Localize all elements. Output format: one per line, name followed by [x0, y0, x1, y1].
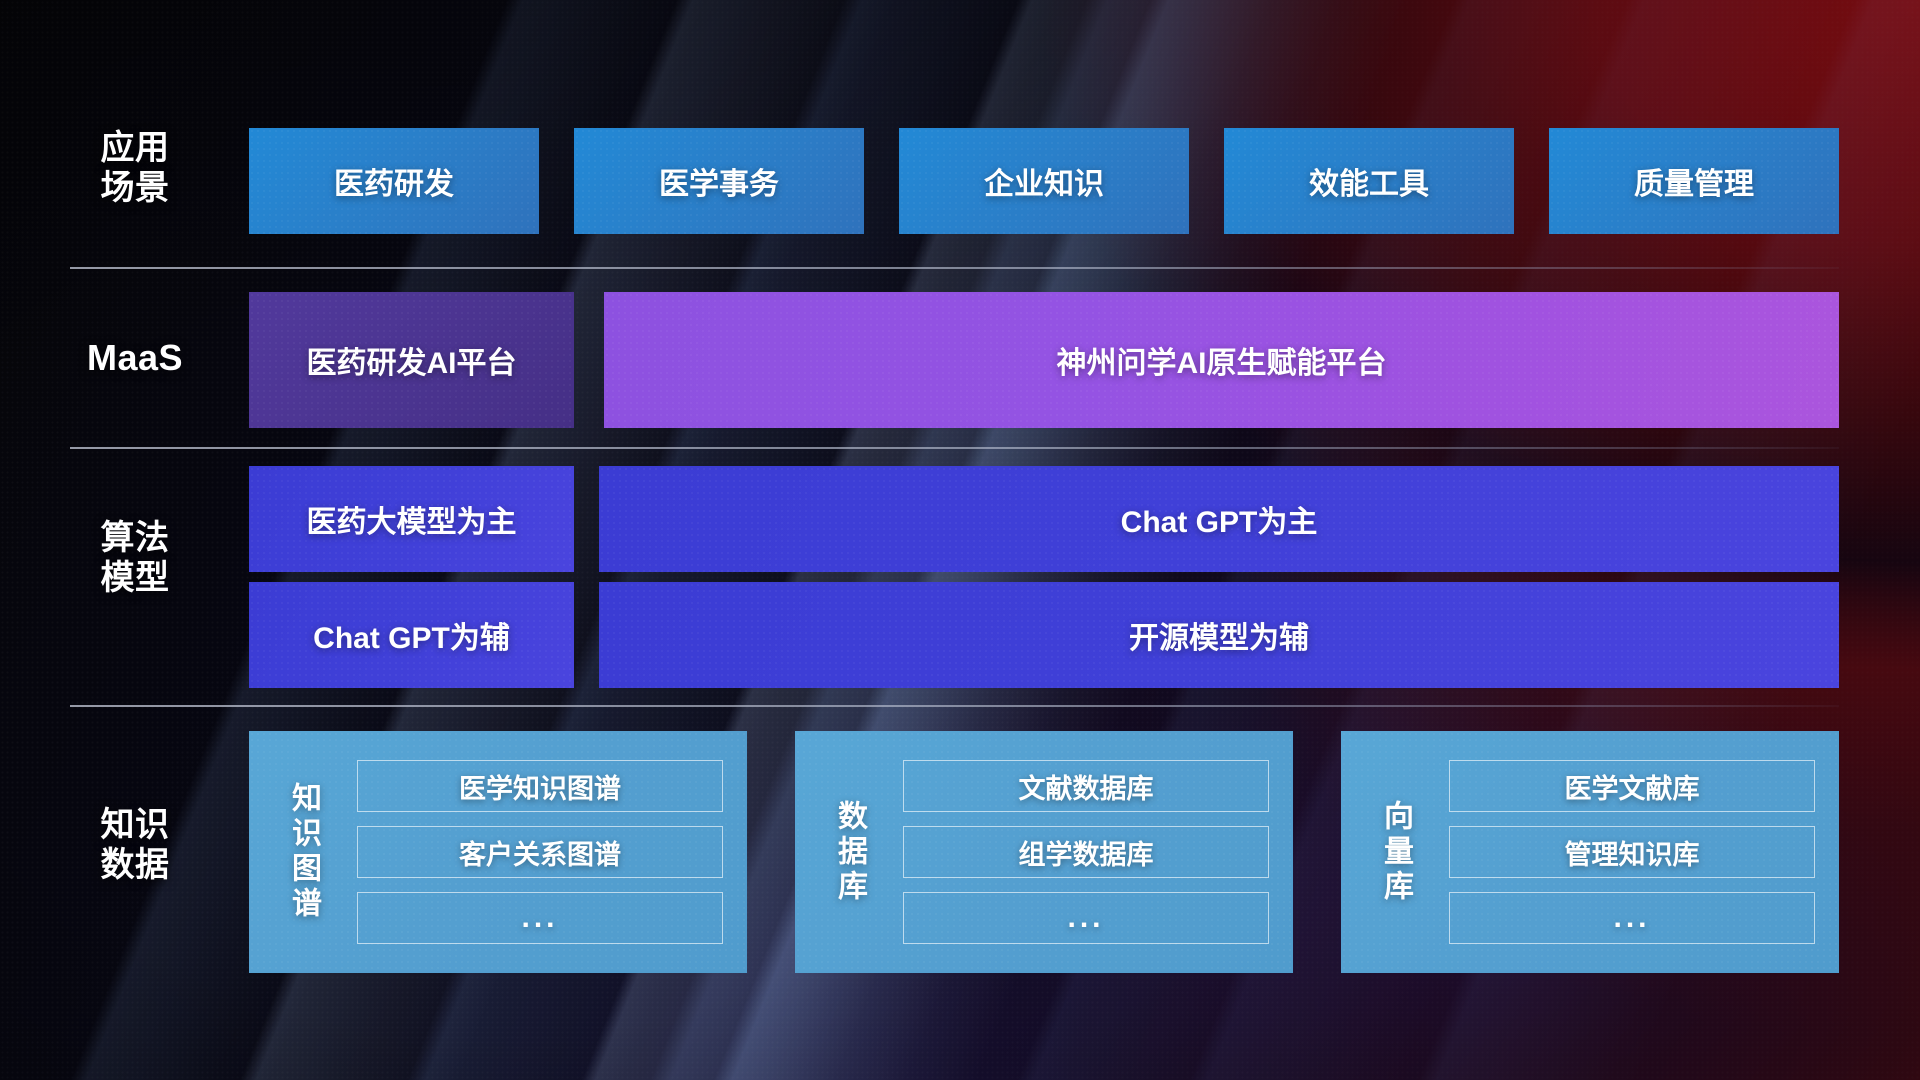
algo-box-label: 医药大模型为主	[307, 497, 517, 541]
app-box-label: 效能工具	[1309, 159, 1429, 203]
algo-box-label: Chat GPT为主	[1121, 497, 1318, 541]
algo-box-pharma-large-model-primary[interactable]: 医药大模型为主	[249, 466, 574, 572]
knowledge-item[interactable]: 客户关系图谱	[357, 826, 723, 878]
maas-box-label: 神州问学AI原生赋能平台	[1057, 338, 1387, 382]
knowledge-item-label: ...	[1067, 901, 1104, 935]
app-box-label: 企业知识	[984, 159, 1104, 203]
maas-box-pharma-ai-platform[interactable]: 医药研发AI平台	[249, 292, 574, 428]
maas-box-shenzhou-wenxue-platform[interactable]: 神州问学AI原生赋能平台	[604, 292, 1839, 428]
knowledge-item-more[interactable]: ...	[357, 892, 723, 944]
knowledge-item[interactable]: 医学知识图谱	[357, 760, 723, 812]
knowledge-group-item-list: 文献数据库 组学数据库 ...	[903, 731, 1293, 973]
app-box-pharma-rd[interactable]: 医药研发	[249, 128, 539, 234]
algo-box-label: Chat GPT为辅	[313, 613, 510, 657]
knowledge-item-label: ...	[521, 901, 558, 935]
knowledge-group-database: 数据库 文献数据库 组学数据库 ...	[795, 731, 1293, 973]
algo-box-opensource-model-secondary[interactable]: 开源模型为辅	[599, 582, 1839, 688]
divider-application-maas	[70, 267, 1839, 269]
knowledge-item[interactable]: 文献数据库	[903, 760, 1269, 812]
knowledge-item[interactable]: 管理知识库	[1449, 826, 1815, 878]
knowledge-group-item-list: 医学知识图谱 客户关系图谱 ...	[357, 731, 747, 973]
knowledge-item-label: 客户关系图谱	[459, 833, 621, 872]
divider-maas-algorithm	[70, 447, 1839, 449]
knowledge-item-label: 医学文献库	[1565, 767, 1700, 806]
app-box-medical-affairs[interactable]: 医学事务	[574, 128, 864, 234]
maas-box-label: 医药研发AI平台	[307, 338, 517, 382]
app-box-enterprise-knowledge[interactable]: 企业知识	[899, 128, 1189, 234]
knowledge-group-vector-database: 向量库 医学文献库 管理知识库 ...	[1341, 731, 1839, 973]
row-label-maas: MaaS	[70, 337, 200, 379]
knowledge-group-title: 向量库	[1341, 731, 1449, 973]
knowledge-item-label: 医学知识图谱	[459, 767, 621, 806]
app-box-efficiency-tools[interactable]: 效能工具	[1224, 128, 1514, 234]
app-box-label: 医药研发	[334, 159, 454, 203]
app-box-label: 质量管理	[1634, 159, 1754, 203]
knowledge-group-title: 知识图谱	[249, 731, 357, 973]
knowledge-item-label: 文献数据库	[1019, 767, 1154, 806]
algo-box-chatgpt-primary[interactable]: Chat GPT为主	[599, 466, 1839, 572]
architecture-diagram: 应用 场景 医药研发 医学事务 企业知识 效能工具 质量管理 MaaS 医药研发…	[0, 0, 1920, 1080]
knowledge-group-title: 数据库	[795, 731, 903, 973]
knowledge-group-knowledge-graph: 知识图谱 医学知识图谱 客户关系图谱 ...	[249, 731, 747, 973]
row-label-application: 应用 场景	[70, 128, 200, 208]
knowledge-item-label: 管理知识库	[1565, 833, 1700, 872]
knowledge-item[interactable]: 组学数据库	[903, 826, 1269, 878]
algo-box-chatgpt-secondary[interactable]: Chat GPT为辅	[249, 582, 574, 688]
knowledge-item[interactable]: 医学文献库	[1449, 760, 1815, 812]
algo-box-label: 开源模型为辅	[1129, 613, 1309, 657]
knowledge-item-label: 组学数据库	[1019, 833, 1154, 872]
app-box-label: 医学事务	[659, 159, 779, 203]
row-label-algorithm: 算法 模型	[70, 518, 200, 598]
knowledge-group-item-list: 医学文献库 管理知识库 ...	[1449, 731, 1839, 973]
knowledge-item-label: ...	[1613, 901, 1650, 935]
divider-algorithm-knowledge	[70, 705, 1839, 707]
row-label-knowledge: 知识 数据	[70, 805, 200, 885]
knowledge-item-more[interactable]: ...	[903, 892, 1269, 944]
knowledge-item-more[interactable]: ...	[1449, 892, 1815, 944]
app-box-quality-management[interactable]: 质量管理	[1549, 128, 1839, 234]
